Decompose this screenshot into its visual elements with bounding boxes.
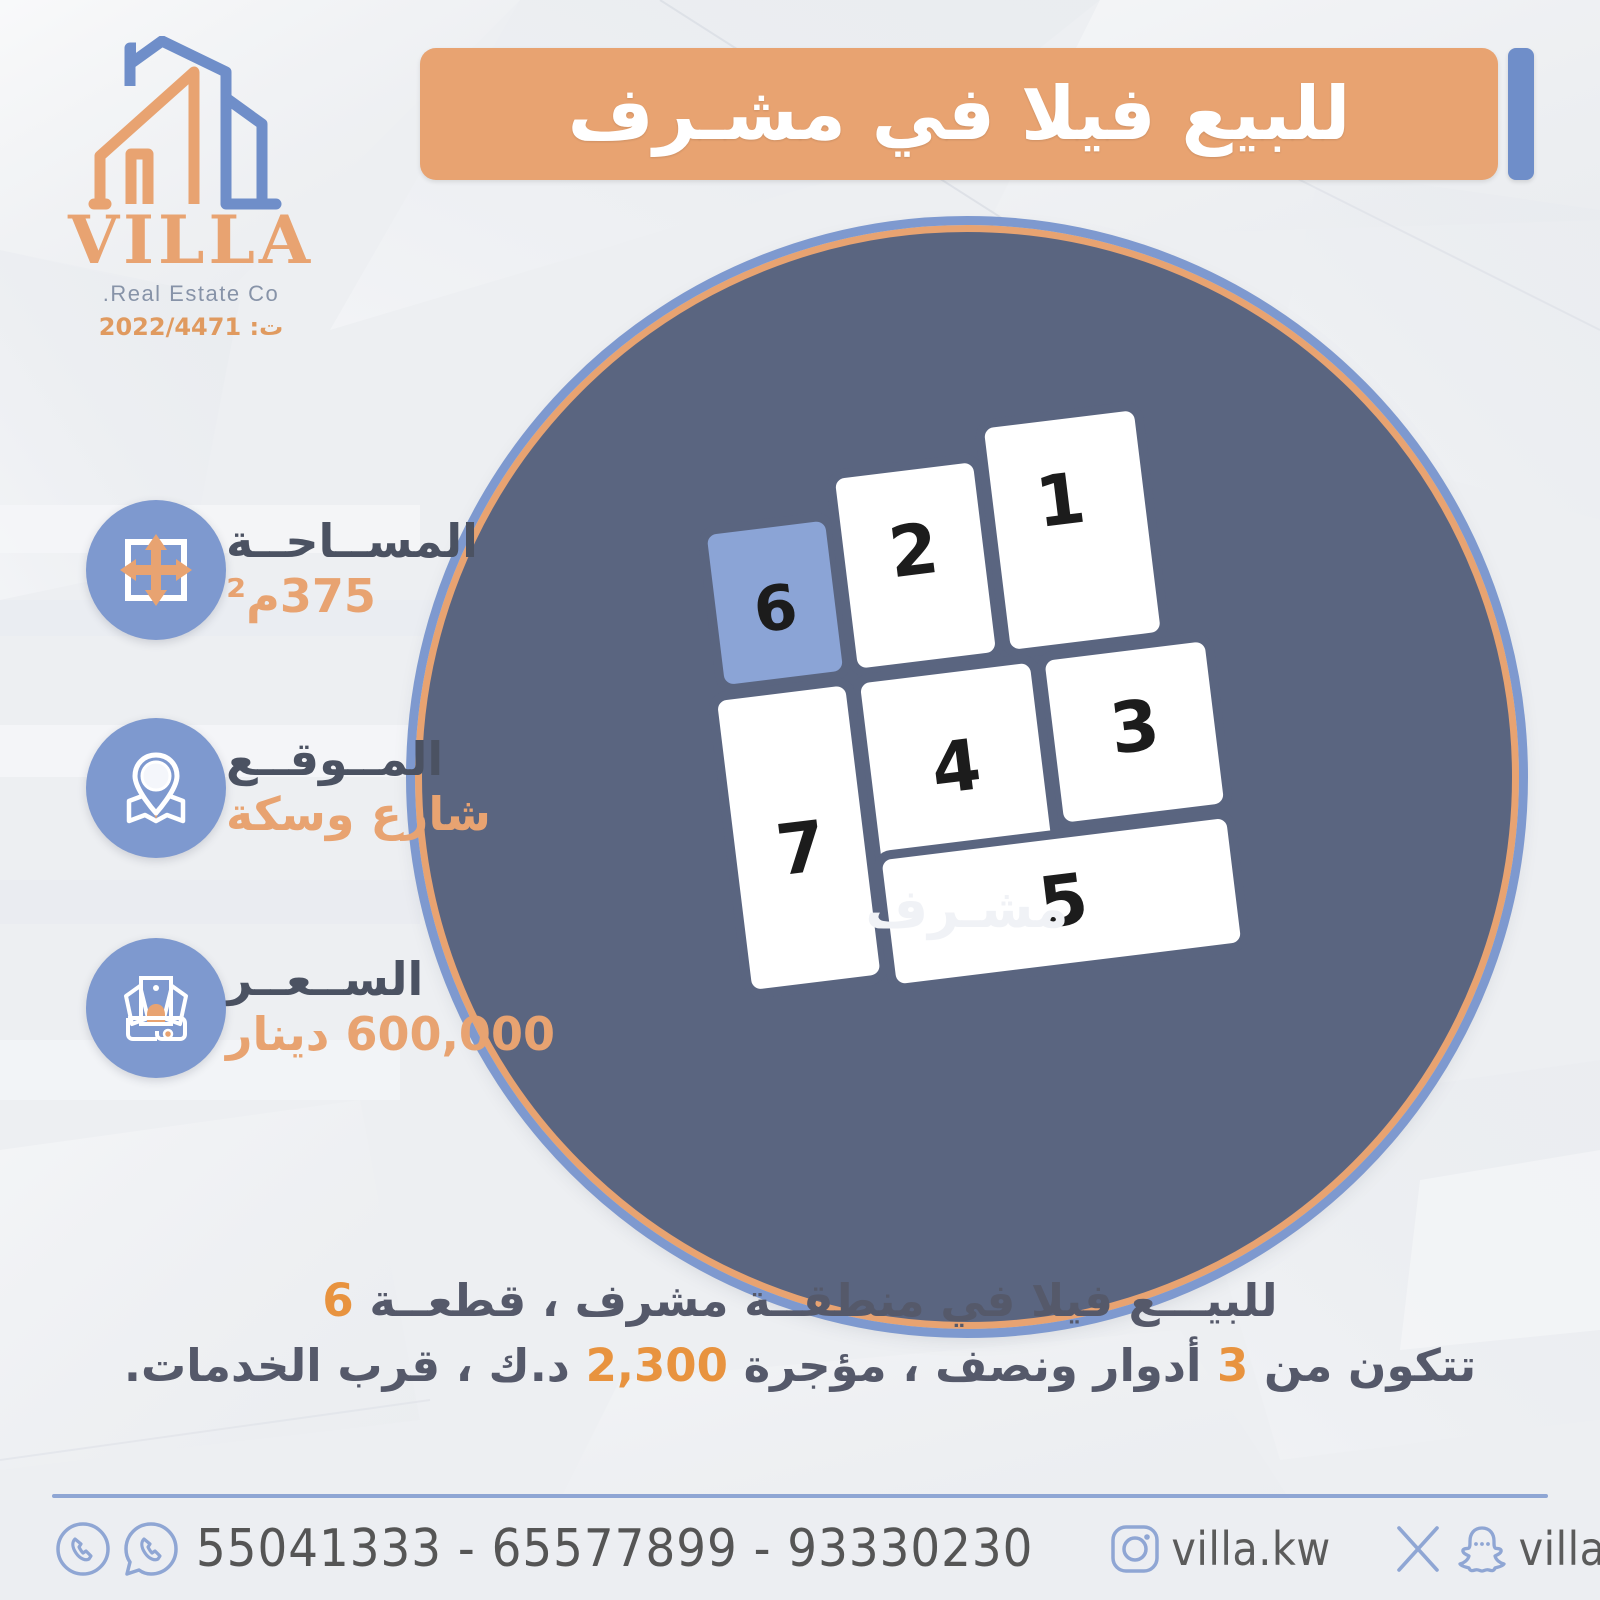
resize-arrows-icon bbox=[114, 528, 198, 612]
description-line-1: للبيـــع فيلا في منطقــة مشرف ، قطعــة 6 bbox=[60, 1268, 1540, 1333]
area-label: المســاحــة bbox=[226, 517, 478, 567]
area-badge bbox=[86, 500, 226, 640]
desc-line2-b: أدوار ونصف ، مؤجرة bbox=[728, 1339, 1217, 1392]
phone-group[interactable]: 55041333 - 65577899 - 93330230 bbox=[52, 1518, 1033, 1580]
footer-divider bbox=[52, 1494, 1548, 1498]
social-group[interactable]: villa_kw bbox=[1389, 1520, 1600, 1578]
desc-line1-highlight: 6 bbox=[322, 1274, 353, 1327]
instagram-handle[interactable]: villa.kw bbox=[1171, 1522, 1330, 1576]
price-badge bbox=[86, 938, 226, 1078]
building-outline-icon bbox=[76, 36, 306, 211]
map-block-label: 6 bbox=[750, 570, 802, 648]
x-twitter-icon[interactable] bbox=[1389, 1520, 1447, 1578]
map-block-label: 4 bbox=[927, 723, 985, 810]
description-line-2: تتكون من 3 أدوار ونصف ، مؤجرة 2,300 د.ك … bbox=[60, 1333, 1540, 1398]
desc-line2-floors: 3 bbox=[1217, 1339, 1248, 1392]
desc-line2-a: تتكون من bbox=[1248, 1339, 1476, 1392]
location-value: شارع وسكة bbox=[226, 788, 491, 841]
phone-numbers[interactable]: 55041333 - 65577899 - 93330230 bbox=[196, 1519, 1033, 1579]
phone-circle-icon[interactable] bbox=[52, 1518, 114, 1580]
map-block-label: 2 bbox=[884, 507, 942, 594]
wallet-money-icon bbox=[110, 962, 202, 1054]
license-number: ت: 2022/4471 bbox=[99, 313, 283, 341]
snapchat-icon[interactable] bbox=[1453, 1520, 1511, 1578]
header-banner: للبيع فيلا في مشـرف bbox=[420, 48, 1498, 180]
feature-price: الســعــر 600,000 دينار bbox=[86, 938, 583, 1078]
map-caption: مشـرف bbox=[422, 877, 1512, 940]
footer-contact-bar: 55041333 - 65577899 - 93330230 villa.kw bbox=[52, 1506, 1548, 1592]
social-handle[interactable]: villa_kw bbox=[1519, 1522, 1600, 1576]
instagram-icon[interactable] bbox=[1107, 1521, 1163, 1577]
price-label: الســعــر bbox=[226, 955, 555, 1005]
logo-wordmark: VILLA bbox=[68, 207, 314, 273]
instagram-group[interactable]: villa.kw bbox=[1107, 1521, 1330, 1577]
desc-line2-c: د.ك ، قرب الخدمات. bbox=[124, 1339, 586, 1392]
area-value: 375م² bbox=[226, 570, 478, 623]
feature-location: المــوقــع شارع وسكة bbox=[86, 718, 519, 858]
price-value: 600,000 دينار bbox=[226, 1008, 555, 1061]
location-label: المــوقــع bbox=[226, 735, 491, 785]
desc-line1-text: للبيـــع فيلا في منطقــة مشرف ، قطعــة bbox=[354, 1274, 1278, 1327]
map-block-label: 3 bbox=[1106, 683, 1164, 770]
map-block-label: 1 bbox=[1031, 457, 1089, 544]
whatsapp-icon[interactable] bbox=[120, 1518, 182, 1580]
page-title: للبيع فيلا في مشـرف bbox=[568, 77, 1351, 151]
logo-tagline: Real Estate Co. bbox=[103, 281, 280, 307]
feature-area: المســاحــة 375م² bbox=[86, 500, 506, 640]
map-pin-icon bbox=[111, 743, 201, 833]
district-map: 6 2 1 3 4 7 5 bbox=[422, 232, 1512, 1322]
header-accent-bar bbox=[1508, 48, 1534, 180]
desc-line2-rent: 2,300 bbox=[586, 1339, 728, 1392]
map-circle: 6 2 1 3 4 7 5 مشـرف bbox=[415, 225, 1519, 1329]
description-block: للبيـــع فيلا في منطقــة مشرف ، قطعــة 6… bbox=[60, 1268, 1540, 1399]
location-badge bbox=[86, 718, 226, 858]
company-logo: VILLA Real Estate Co. ت: 2022/4471 bbox=[46, 36, 336, 356]
